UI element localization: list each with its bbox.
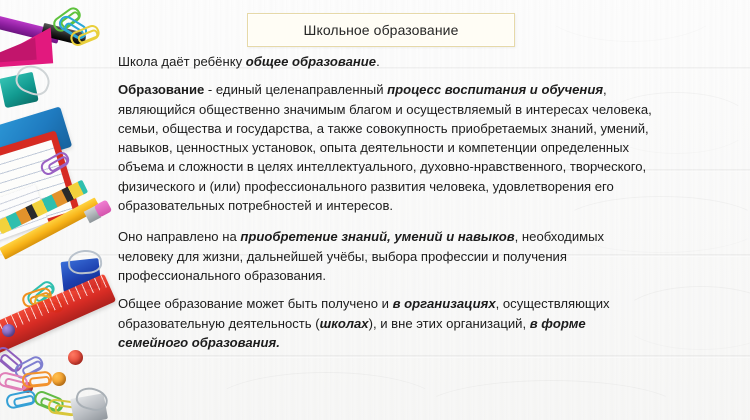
ruler-red-ticks-icon	[0, 274, 116, 357]
run-text: Общее образование может быть получено и	[118, 296, 393, 311]
bead-red-icon	[68, 350, 83, 365]
bead-purple-icon	[2, 324, 15, 337]
run-emphasis: общее образование	[246, 54, 376, 69]
slide-canvas: Школьное образование Школа даёт ребёнку …	[0, 0, 750, 420]
bead-orange-icon	[52, 372, 66, 386]
run-emphasis: процесс воспитания и обучения	[387, 82, 603, 97]
page-title: Школьное образование	[304, 22, 459, 38]
run-text: , являющийся общественно значимым благом…	[118, 82, 652, 213]
slide-body-text: Школа даёт ребёнку общее образование. Об…	[118, 52, 658, 352]
slide-title-box: Школьное образование	[247, 13, 515, 47]
run-emphasis: в организациях	[393, 296, 496, 311]
paragraph-1: Школа даёт ребёнку общее образование.	[118, 52, 658, 71]
run-text: ), и вне этих организаций,	[369, 316, 530, 331]
paragraph-2: Образование - единый целенаправленный пр…	[118, 80, 658, 215]
paragraph-4: Общее образование может быть получено и …	[118, 294, 658, 352]
run-text: - единый целенаправленный	[204, 82, 387, 97]
paperclip-cyan-icon	[5, 389, 37, 410]
paperclip-orange2-icon	[21, 370, 52, 388]
paragraph-3: Оно направлено на приобретение знаний, у…	[118, 227, 658, 285]
school-supplies-decoration	[0, 0, 118, 420]
run-emphasis: школах	[320, 316, 369, 331]
run-emphasis: приобретение знаний, умений и навыков	[240, 229, 514, 244]
run-text: .	[376, 54, 380, 69]
run-term: Образование	[118, 82, 204, 97]
run-text: Оно направлено на	[118, 229, 240, 244]
run-text: Школа даёт ребёнку	[118, 54, 246, 69]
